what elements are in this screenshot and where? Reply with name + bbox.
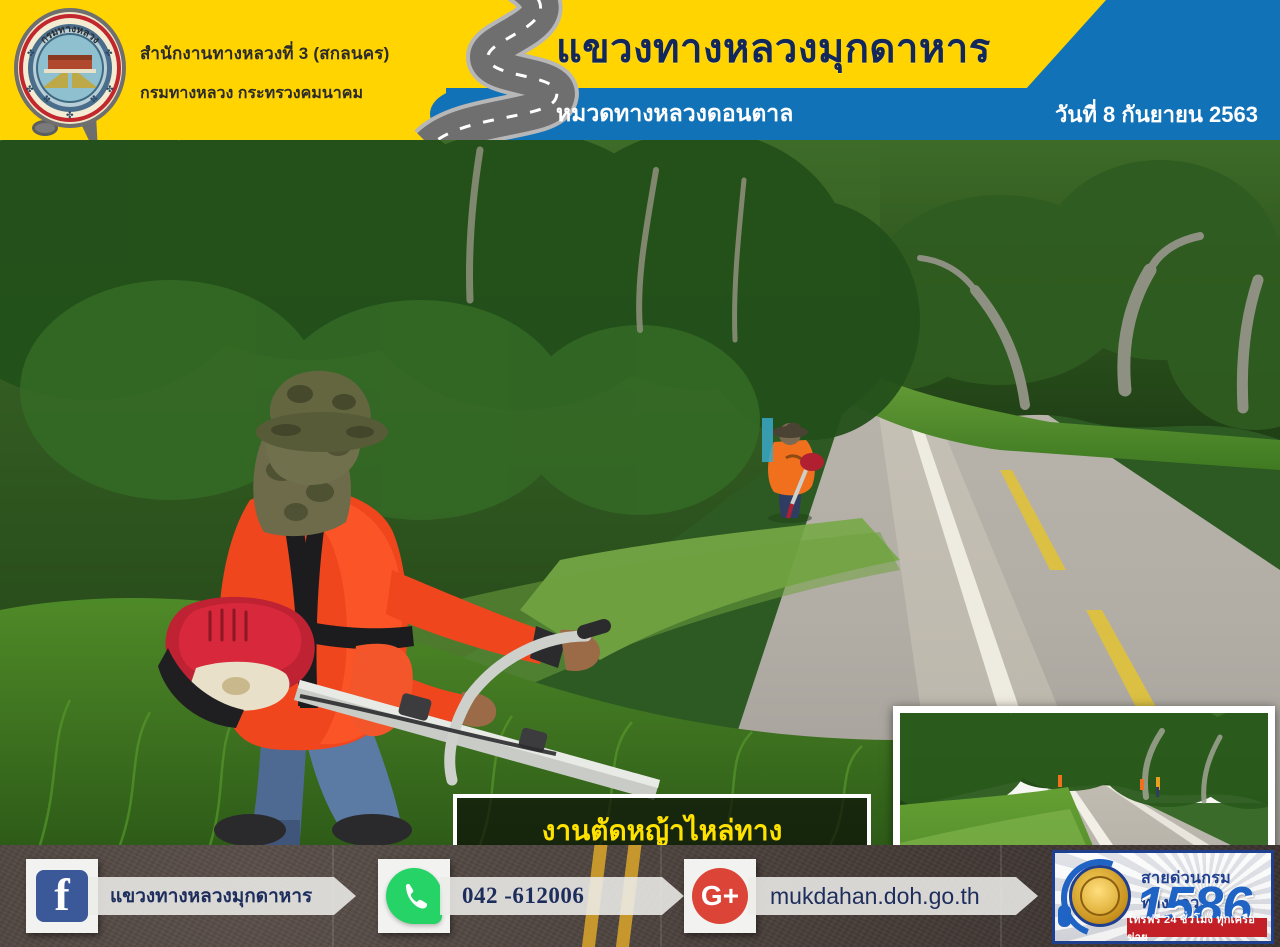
inset-photo bbox=[893, 706, 1275, 845]
logo-dot-6: ✤ bbox=[43, 96, 50, 103]
facebook-label[interactable]: แขวงทางหลวงมุกดาหาร bbox=[88, 877, 356, 915]
poster-page: กรมทางหลวง ✤ ✤ ✤ ✤ ✤ ✤ ✤ สำนักงานทางหลวง… bbox=[0, 0, 1280, 947]
website-label[interactable]: mukdahan.doh.go.th bbox=[748, 877, 1038, 915]
logo-dot-3: ✤ bbox=[66, 112, 73, 119]
inset-photo-art bbox=[900, 713, 1268, 845]
office-name-block: สำนักงานทางหลวงที่ 3 (สกลนคร) กรมทางหลวง… bbox=[140, 40, 440, 106]
page-header: กรมทางหลวง ✤ ✤ ✤ ✤ ✤ ✤ ✤ สำนักงานทางหลวง… bbox=[0, 0, 1280, 140]
main-photo: งานตัดหญ้าไหล่ทาง ทล.2034 ตอน นาสีนวน - … bbox=[0, 140, 1280, 845]
caption-box: งานตัดหญ้าไหล่ทาง ทล.2034 ตอน นาสีนวน - … bbox=[453, 794, 871, 845]
page-title: แขวงทางหลวงมุกดาหาร bbox=[556, 16, 991, 80]
page-subtitle: หมวดทางหลวงดอนตาล bbox=[556, 96, 793, 132]
logo-dot-7: ✤ bbox=[90, 96, 97, 103]
logo-dot-4: ✤ bbox=[106, 86, 113, 93]
facebook-icon[interactable] bbox=[26, 859, 98, 933]
logo-dot-1: ✤ bbox=[27, 50, 34, 57]
whatsapp-icon[interactable] bbox=[378, 859, 450, 933]
svg-text:กรมทางหลวง: กรมทางหลวง bbox=[39, 24, 102, 46]
headset-earpiece bbox=[1058, 905, 1071, 927]
hotline-badge[interactable]: สายด่วนกรมทางหลวง 1586 โทรฟรี 24 ชั่วโมง… bbox=[1052, 850, 1274, 944]
googleplus-icon[interactable]: G+ bbox=[684, 859, 756, 933]
hotline-banner: โทรฟรี 24 ชั่วโมง ทุกเครือข่าย bbox=[1127, 918, 1267, 937]
logo-arc-label: กรมทางหลวง bbox=[39, 24, 102, 46]
caption-line-1: งานตัดหญ้าไหล่ทาง bbox=[542, 809, 783, 846]
doh-seal-icon bbox=[1069, 865, 1131, 927]
logo-dot-2: ✤ bbox=[26, 86, 33, 93]
office-line-1: สำนักงานทางหลวงที่ 3 (สกลนคร) bbox=[140, 40, 440, 67]
page-date: วันที่ 8 กันยายน 2563 bbox=[1055, 97, 1258, 132]
department-logo: กรมทางหลวง ✤ ✤ ✤ ✤ ✤ ✤ ✤ bbox=[10, 6, 130, 134]
logo-dot-5: ✤ bbox=[105, 50, 112, 57]
office-line-2: กรมทางหลวง กระทรวงคมนาคม bbox=[140, 81, 440, 106]
phone-label[interactable]: 042 -612006 bbox=[440, 877, 684, 915]
